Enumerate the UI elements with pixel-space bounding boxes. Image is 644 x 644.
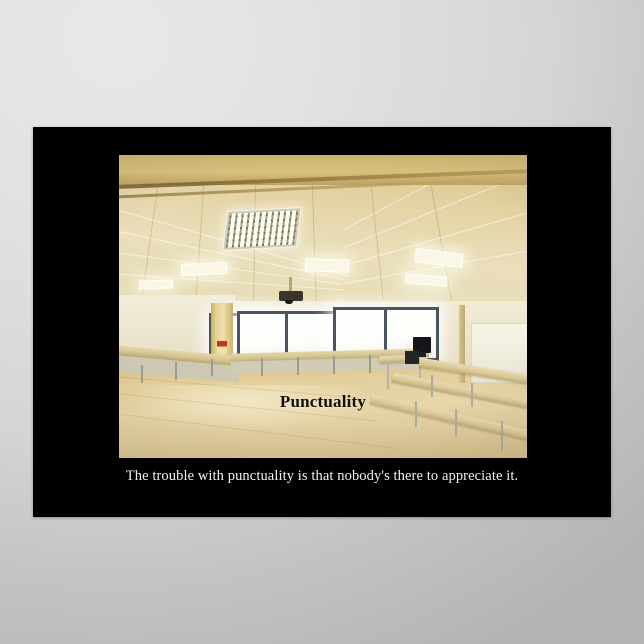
column-sign: [217, 341, 227, 353]
poster-photo: [119, 155, 527, 458]
table-leg: [455, 409, 457, 437]
demotivational-poster: Punctuality The trouble with punctuality…: [33, 127, 611, 517]
fluorescent-light-panel: [305, 258, 349, 273]
fluorescent-light-panel: [181, 262, 228, 276]
fluorescent-light-panel: [222, 207, 302, 251]
poster-page: Punctuality The trouble with punctuality…: [0, 0, 644, 644]
counter-leg: [261, 358, 263, 376]
counter-leg: [141, 365, 143, 383]
monitor-stand: [418, 352, 426, 357]
counter-leg: [369, 355, 371, 373]
counter-leg: [333, 356, 335, 374]
counter-leg: [297, 357, 299, 375]
counter-leg: [175, 362, 177, 380]
table-leg: [501, 421, 503, 451]
poster-title: Punctuality: [119, 392, 527, 412]
table-leg: [387, 361, 389, 389]
poster-caption: The trouble with punctuality is that nob…: [33, 468, 611, 485]
computer-tower: [405, 351, 419, 364]
projector-lens: [285, 300, 293, 304]
counter-leg: [211, 359, 213, 376]
fluorescent-light-panel: [139, 279, 173, 289]
